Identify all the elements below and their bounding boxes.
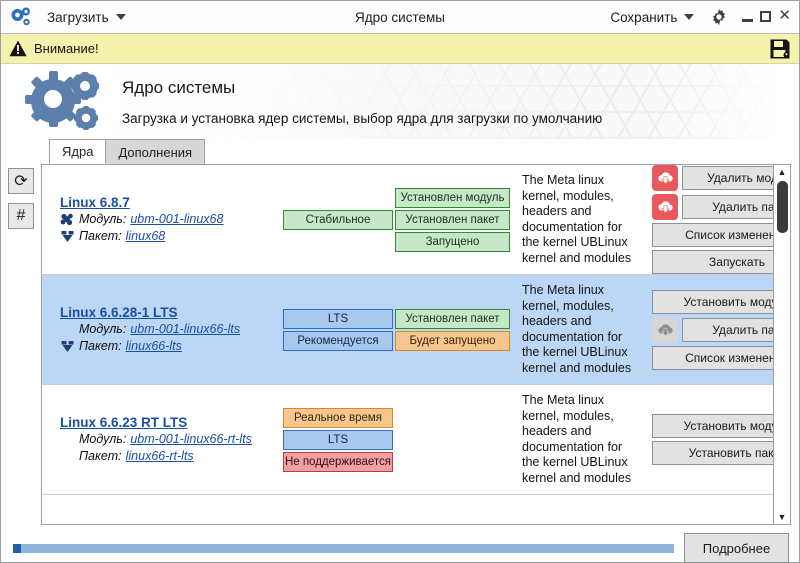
package-icon [60,229,75,243]
refresh-icon: ⟳ [14,171,27,191]
title-bar: Загрузить Ядро системы Сохранить ✕ [1,1,799,34]
kernel-description: The Meta linux kernel, modules, headers … [522,173,642,266]
status-badge: Установлен модуль [395,188,510,208]
tab-kernels[interactable]: Ядра [49,139,106,164]
package-link[interactable]: linux68 [126,228,166,245]
page-banner: Ядро системы Загрузка и установка ядер с… [1,64,799,139]
cloud-download-icon [652,165,678,191]
table-row[interactable]: Linux 6.6.28-1 LTS Модуль: ubm-001-linux… [42,275,773,385]
status-badge: Запущено [395,232,510,252]
status-badge: Стабильное [283,210,393,230]
action-row: Удалить пакет [652,317,773,343]
install-package-button[interactable]: Установить пакет [652,441,773,465]
remove-package-button[interactable]: Удалить пакет [682,195,773,219]
kernel-list-panel: Linux 6.8.7 [41,164,791,525]
kernel-name-link[interactable]: Linux 6.6.28-1 LTS [60,305,178,320]
action-row: Удалить пакет [652,194,773,220]
gear-icon[interactable] [710,8,728,26]
chevron-down-icon [116,14,126,20]
action-buttons: Установить модуль Удалить пакет [652,290,773,370]
changelog-button[interactable]: Список изменений [652,346,773,370]
cogs-icon [9,6,33,28]
kernel-name-link[interactable]: Linux 6.8.7 [60,195,130,210]
action-row: Удалить модуль [652,165,773,191]
refresh-button[interactable]: ⟳ [8,168,34,194]
title-bar-left: Загрузить [9,6,130,28]
action-row: Запускать [652,250,773,274]
status-badge: Установлен пакет [395,309,510,329]
hash-button[interactable]: # [8,203,34,229]
badge-column-left: Стабильное [283,210,393,230]
package-link[interactable]: linux66-lts [126,338,182,355]
package-link[interactable]: linux66-rt-lts [126,448,194,465]
scroll-up-arrow-icon[interactable]: ▲ [774,165,790,179]
action-row: Установить модуль [652,290,773,314]
badge-column-right: Установлен модуль Установлен пакет Запущ… [395,188,510,252]
kernel-description: The Meta linux kernel, modules, headers … [522,283,642,376]
scroll-down-arrow-icon[interactable]: ▼ [774,510,790,524]
banner-fade-right [669,64,799,139]
cloud-download-icon [652,194,678,220]
package-label: Пакет: [79,228,122,245]
hash-icon: # [17,207,26,225]
action-buttons: Удалить модуль Удалить пакет [652,165,773,274]
minimize-icon[interactable] [742,19,753,22]
warning-bar: Внимание! [1,34,799,64]
floppy-save-icon[interactable] [769,38,791,60]
status-badge: LTS [283,430,393,450]
cubes-icon [60,212,75,226]
kernel-package-line: Пакет: linux66-lts [60,338,275,355]
action-buttons: Установить модуль Установить пакет [652,414,773,465]
progress-bar-fill [13,544,21,553]
module-link[interactable]: ubm-001-linux68 [130,211,223,228]
table-row[interactable]: Linux 6.8.7 [42,165,773,275]
kernel-module-line: Модуль: ubm-001-linux66-lts [60,321,275,338]
tab-strip: Ядра Дополнения [1,139,799,164]
status-badge: Реальное время [283,408,393,428]
tab-kernels-label: Ядра [62,144,93,159]
kernel-list: Linux 6.8.7 [42,165,773,524]
kernel-module-line: Модуль: ubm-001-linux68 [60,211,275,228]
action-row: Установить пакет [652,441,773,465]
details-button[interactable]: Подробнее [684,533,789,563]
kernel-package-line: Пакет: linux66-rt-lts [60,448,275,465]
changelog-button[interactable]: Список изменений [652,223,773,247]
footer-bar: Подробнее [1,525,799,563]
kernel-description: The Meta linux kernel, modules, headers … [522,393,642,486]
status-badge: Установлен пакет [395,210,510,230]
status-badge: Не поддерживается [283,452,393,472]
scrollbar-thumb[interactable] [777,181,788,233]
table-row[interactable]: Linux 6.6.23 RT LTS Модуль: ubm-001-linu… [42,385,773,495]
window-controls: ✕ [742,13,791,22]
load-menu-label: Загрузить [47,10,109,25]
module-label: Модуль: [79,431,126,448]
kernel-info: Linux 6.8.7 [60,195,275,245]
module-label: Модуль: [79,211,126,228]
scrollbar-track[interactable] [774,179,790,510]
remove-package-button[interactable]: Удалить пакет [682,318,773,342]
kernel-package-line: Пакет: linux68 [60,228,275,245]
kernel-info: Linux 6.6.23 RT LTS Модуль: ubm-001-linu… [60,415,275,465]
side-toolbar: ⟳ # [1,164,41,525]
maximize-icon[interactable] [760,11,771,22]
vertical-scrollbar[interactable]: ▲ ▼ [773,165,790,524]
gears-icon [23,69,108,135]
warning-triangle-icon [9,40,27,57]
chevron-down-icon [684,14,694,20]
package-icon [60,339,75,353]
action-row: Список изменений [652,223,773,247]
application-window: Загрузить Ядро системы Сохранить ✕ [0,0,800,563]
kernel-name-link[interactable]: Linux 6.6.23 RT LTS [60,415,187,430]
module-link[interactable]: ubm-001-linux66-rt-lts [130,431,252,448]
body-area: ⟳ # Linux 6.8.7 [1,164,799,525]
status-badge: Рекомендуется [283,331,393,351]
warning-text: Внимание! [34,41,99,56]
package-label: Пакет: [79,448,122,465]
badge-column-left: Реальное время LTS Не поддерживается [283,408,393,472]
tab-addons[interactable]: Дополнения [105,139,205,164]
load-menu-button[interactable]: Загрузить [43,8,130,27]
install-module-button[interactable]: Установить модуль [652,414,773,438]
tab-addons-label: Дополнения [118,145,192,160]
action-row: Установить модуль [652,414,773,438]
install-module-button[interactable]: Установить модуль [652,290,773,314]
title-bar-right: Сохранить ✕ [606,8,791,27]
action-row: Список изменений [652,346,773,370]
status-badge: Будет запущено [395,331,510,351]
module-label: Модуль: [79,321,126,338]
package-label: Пакет: [79,338,122,355]
kernel-info: Linux 6.6.28-1 LTS Модуль: ubm-001-linux… [60,305,275,355]
status-badge: LTS [283,309,393,329]
kernel-module-line: Модуль: ubm-001-linux66-rt-lts [60,431,275,448]
progress-bar [13,544,674,553]
cloud-download-icon [652,317,678,343]
banner-title: Ядро системы [122,78,602,98]
close-icon[interactable]: ✕ [778,10,791,22]
remove-module-button[interactable]: Удалить модуль [682,166,773,190]
badge-column-left: LTS Рекомендуется [283,309,393,351]
save-menu-label: Сохранить [610,10,677,25]
run-button[interactable]: Запускать [652,250,773,274]
module-link[interactable]: ubm-001-linux66-lts [130,321,240,338]
save-menu-button[interactable]: Сохранить [606,8,698,27]
banner-subtitle: Загрузка и установка ядер системы, выбор… [122,111,602,126]
badge-column-right: Установлен пакет Будет запущено [395,309,510,351]
